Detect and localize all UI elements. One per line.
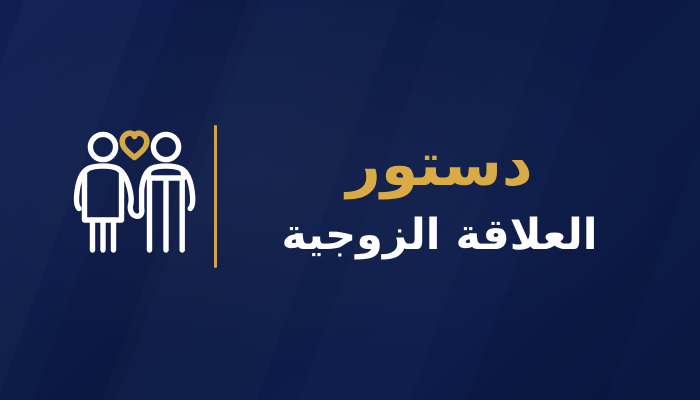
banner-title-primary: دستور (346, 133, 532, 198)
couple-with-heart-icon (66, 121, 206, 271)
promo-banner: دستور العلاقة الزوجية (0, 0, 700, 400)
woman-dress-icon (85, 166, 122, 220)
vertical-divider (214, 125, 217, 268)
woman-head-icon (90, 134, 115, 159)
banner-text-block: دستور العلاقة الزوجية (245, 133, 635, 260)
banner-title-secondary: العلاقة الزوجية (282, 211, 598, 259)
heart-icon (122, 133, 147, 157)
man-head-icon (153, 134, 178, 159)
banner-content: دستور العلاقة الزوجية (0, 0, 700, 400)
couple-icon-graphic (73, 126, 198, 266)
